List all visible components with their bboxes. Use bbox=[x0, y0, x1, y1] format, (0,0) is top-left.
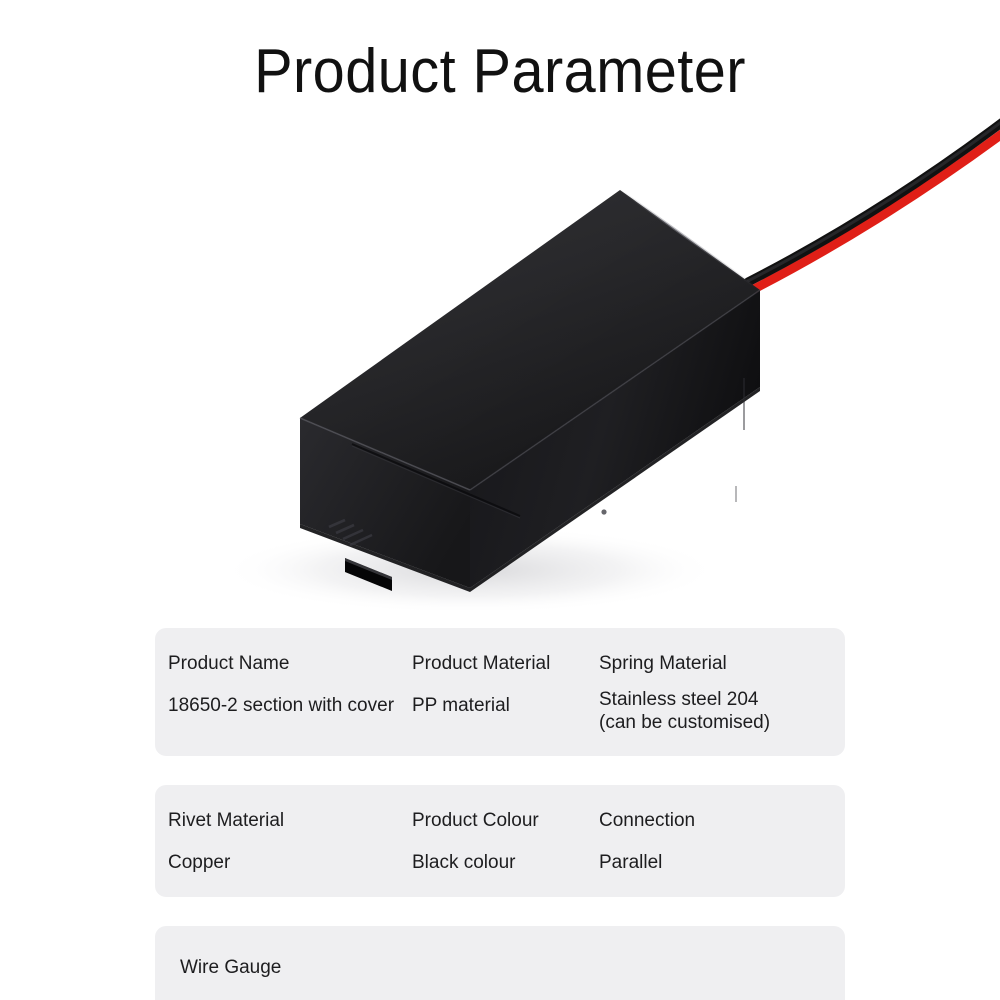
spec-label: Wire Gauge bbox=[180, 956, 845, 980]
spec-row-labels: Product Name 18650-2 section with cover … bbox=[155, 652, 845, 734]
spec-value: Copper bbox=[168, 851, 412, 875]
spec-row-labels: Rivet Material Copper Product Colour Bla… bbox=[155, 809, 845, 875]
spec-panel-2: Rivet Material Copper Product Colour Bla… bbox=[155, 785, 845, 897]
spec-label: Connection bbox=[599, 809, 832, 833]
spec-label: Product Material bbox=[412, 652, 599, 676]
photo-backdrop bbox=[0, 100, 1000, 610]
page-title: Product Parameter bbox=[35, 36, 965, 108]
wire-leads bbox=[748, 117, 1000, 290]
spec-panel-3: Wire Gauge Wire length 15cm, tinned 4mm … bbox=[155, 926, 845, 1000]
product-photo bbox=[0, 100, 1000, 610]
spec-cell-wire-gauge: Wire Gauge Wire length 15cm, tinned 4mm … bbox=[155, 956, 845, 1000]
spec-row-labels: Wire Gauge Wire length 15cm, tinned 4mm … bbox=[155, 956, 845, 1000]
spec-value: PP material bbox=[412, 694, 599, 718]
spec-label: Rivet Material bbox=[168, 809, 412, 833]
battery-holder-illustration bbox=[0, 100, 1000, 610]
product-parameter-page: Product Parameter bbox=[0, 0, 1000, 1000]
moulding-mark bbox=[601, 509, 606, 514]
spec-value: Parallel bbox=[599, 851, 832, 875]
spec-value: Stainless steel 204 (can be customised) bbox=[599, 688, 832, 734]
spec-cell-spring-material: Spring Material Stainless steel 204 (can… bbox=[599, 652, 832, 734]
spec-cell-product-material: Product Material PP material bbox=[412, 652, 599, 718]
spec-panel-1: Product Name 18650-2 section with cover … bbox=[155, 628, 845, 756]
specification-table: Product Name 18650-2 section with cover … bbox=[155, 628, 845, 1000]
spec-label: Spring Material bbox=[599, 652, 832, 676]
spec-cell-connection: Connection Parallel bbox=[599, 809, 832, 875]
spec-value: 18650-2 section with cover bbox=[168, 694, 412, 718]
spec-value: Black colour bbox=[412, 851, 599, 875]
spec-cell-product-name: Product Name 18650-2 section with cover bbox=[155, 652, 412, 718]
spec-cell-product-colour: Product Colour Black colour bbox=[412, 809, 599, 875]
spec-label: Product Name bbox=[168, 652, 412, 676]
spec-label: Product Colour bbox=[412, 809, 599, 833]
spec-cell-rivet-material: Rivet Material Copper bbox=[155, 809, 412, 875]
